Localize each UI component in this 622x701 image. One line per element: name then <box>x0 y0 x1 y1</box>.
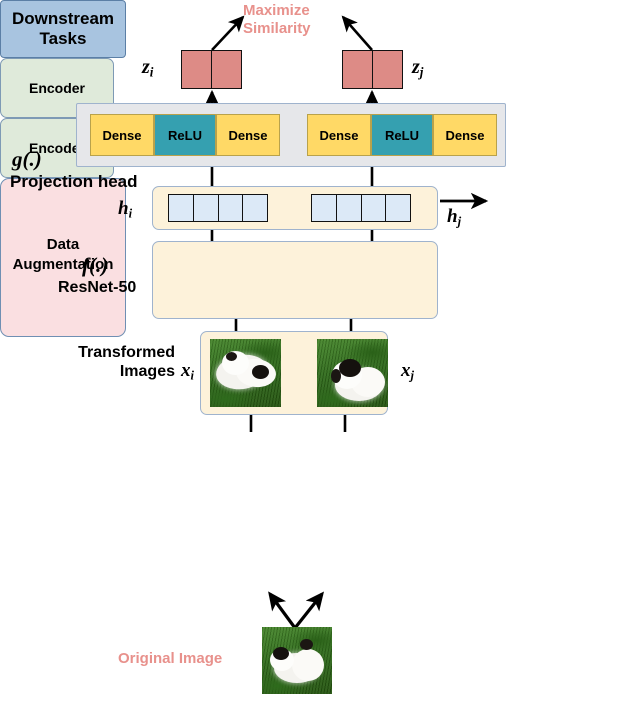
projection-left-dense-2: Dense <box>216 114 280 156</box>
z-right-vector <box>342 50 403 89</box>
z-left-label: zi <box>142 56 153 81</box>
z-left-subscript: i <box>150 65 154 80</box>
encoder-band <box>152 241 438 319</box>
original-dog-photo <box>262 627 332 694</box>
h-right-cell-4 <box>385 195 410 221</box>
h-right-vector <box>311 194 411 222</box>
h-left-vector <box>168 194 268 222</box>
h-left-label: hi <box>118 198 132 222</box>
projection-function-label: g(.) <box>12 147 42 172</box>
projection-head-right-layers: Dense ReLU Dense <box>307 114 497 156</box>
h-left-symbol: h <box>118 198 129 219</box>
h-right-cell-1 <box>312 195 336 221</box>
projection-head-name: Projection head <box>10 172 138 192</box>
z-right-symbol: z <box>412 56 420 78</box>
z-right-label: zj <box>412 56 423 81</box>
x-right-label: xj <box>401 360 414 384</box>
h-right-label: hj <box>447 206 461 230</box>
encoder-function-label: f(.) <box>82 253 108 278</box>
h-right-symbol: h <box>447 206 458 227</box>
original-image-label: Original Image <box>118 650 222 668</box>
downstream-tasks-box[interactable]: Downstream Tasks <box>0 0 126 58</box>
z-right-cell-2 <box>372 51 402 88</box>
h-left-cell-3 <box>218 195 243 221</box>
z-right-subscript: j <box>420 65 424 80</box>
projection-right-relu: ReLU <box>371 114 433 156</box>
h-right-subscript: j <box>458 215 461 229</box>
maximize-similarity-label: Maximize Similarity <box>243 2 353 37</box>
h-left-cell-4 <box>242 195 267 221</box>
x-left-symbol: x <box>181 360 191 381</box>
projection-right-dense-2: Dense <box>433 114 497 156</box>
h-left-subscript: i <box>129 207 132 221</box>
encoder-name-label: ResNet-50 <box>58 279 136 298</box>
x-left-label: xi <box>181 360 194 384</box>
simclr-diagram: Maximize Similarity zi zj Dense ReLU Den… <box>0 0 622 701</box>
projection-left-dense-1: Dense <box>90 114 154 156</box>
transformed-dog-photo-right <box>317 339 388 407</box>
transformed-images-label: Transformed Images <box>40 344 175 382</box>
z-left-cell-1 <box>182 51 211 88</box>
z-right-cell-1 <box>343 51 372 88</box>
projection-left-relu: ReLU <box>154 114 216 156</box>
h-right-cell-3 <box>361 195 386 221</box>
h-right-cell-2 <box>336 195 361 221</box>
x-right-symbol: x <box>401 360 411 381</box>
x-left-subscript: i <box>191 369 194 383</box>
z-left-symbol: z <box>142 56 150 78</box>
projection-head-left-layers: Dense ReLU Dense <box>90 114 280 156</box>
h-left-cell-1 <box>169 195 193 221</box>
projection-right-dense-1: Dense <box>307 114 371 156</box>
h-left-cell-2 <box>193 195 218 221</box>
x-right-subscript: j <box>411 369 414 383</box>
z-left-cell-2 <box>211 51 241 88</box>
z-left-vector <box>181 50 242 89</box>
transformed-dog-photo-left <box>210 339 281 407</box>
